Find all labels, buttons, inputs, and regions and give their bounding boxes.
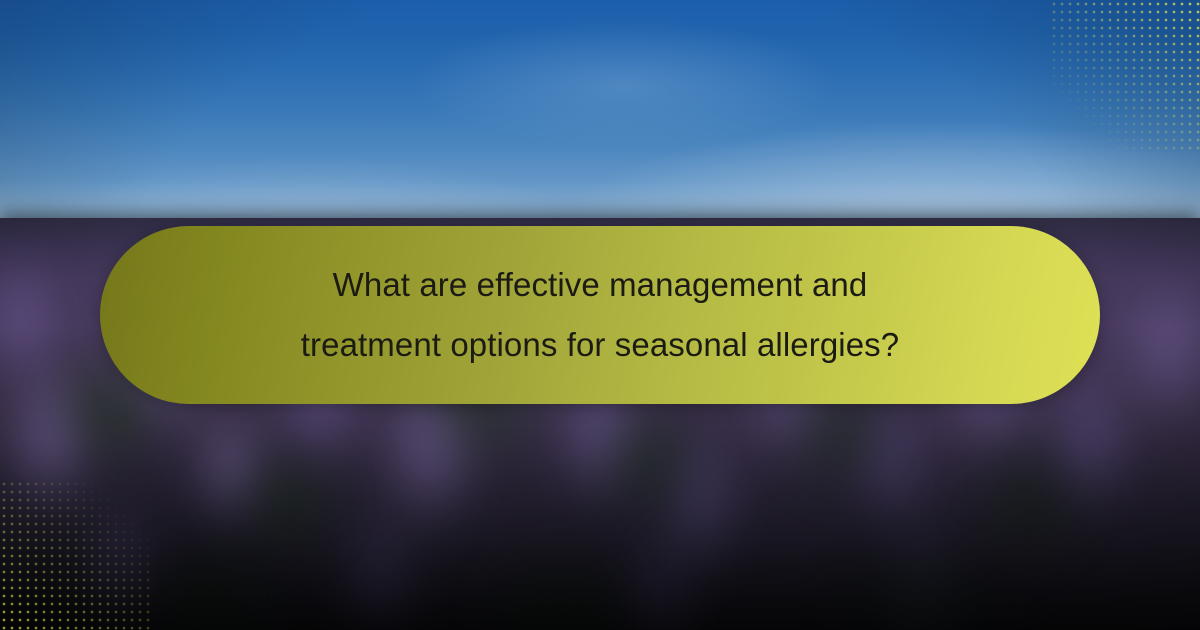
question-card: What are effective management and treatm… — [0, 0, 1200, 630]
question-text: What are effective management and treatm… — [160, 255, 1040, 375]
question-pill: What are effective management and treatm… — [100, 226, 1100, 404]
